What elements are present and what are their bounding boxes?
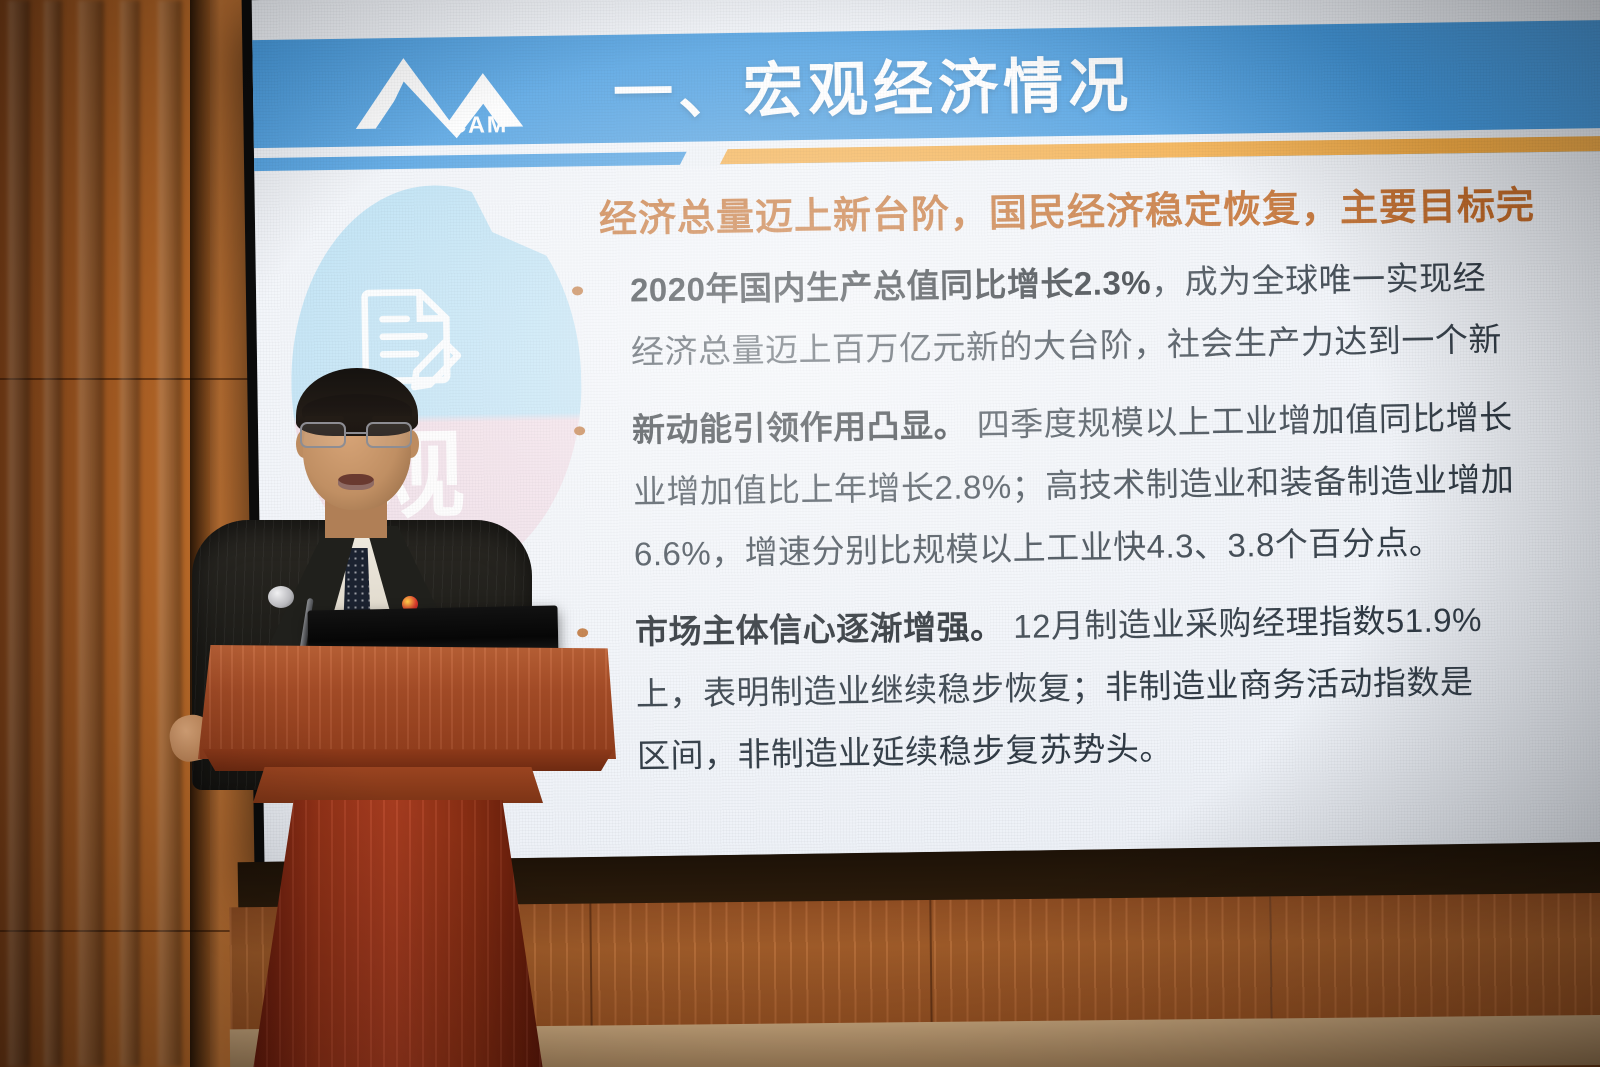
- bullet-dot-icon: [572, 286, 583, 295]
- slide-subtitle: 经济总量迈上新台阶，国民经济稳定恢复，主要目标完: [599, 174, 1536, 243]
- microphone-icon: [268, 586, 294, 608]
- eyebrow-right: [372, 416, 412, 421]
- podium-top: [198, 645, 616, 759]
- slide-bullet-list: 2020年国内生产总值同比增长2.3%，成为全球唯一实现经经济总量迈上百万亿元新…: [568, 240, 1600, 805]
- slide-accent-bar: [709, 136, 1600, 165]
- bullet-line-emphasis: 新动能引领作用凸显。: [632, 407, 968, 449]
- bullet-item: 新动能引领作用凸显。 四季度规模以上工业增加值同比增长业增加值比上年增长2.8%…: [570, 380, 1600, 587]
- slide-title: 一、宏观经济情况: [612, 37, 1133, 132]
- eyeglasses: [298, 422, 416, 450]
- podium-column: [253, 800, 543, 1067]
- bullet-item: 2020年国内生产总值同比增长2.3%，成为全球唯一实现经经济总量迈上百万亿元新…: [568, 240, 1600, 385]
- mouth: [338, 474, 374, 490]
- podium-neck: [253, 767, 543, 803]
- eyebrow-left: [304, 416, 344, 421]
- svg-text:CAM: CAM: [449, 111, 508, 138]
- cam-logo-icon: CAM: [347, 48, 528, 143]
- bullet-item: 市场主体信心逐渐增强。 12月制造业采购经理指数51.9%上，表明制造业继续稳步…: [573, 582, 1600, 789]
- presentation-photo: 观 CAM 一、宏观经济情况 经济总量迈上新台阶，国民经济稳定恢复，主要目标完 …: [0, 0, 1600, 1067]
- bullet-line-emphasis: 2020年国内生产总值同比增长2.3%: [630, 264, 1152, 309]
- bullet-line-emphasis: 市场主体信心逐渐增强。: [635, 608, 1004, 650]
- podium: [198, 645, 628, 1067]
